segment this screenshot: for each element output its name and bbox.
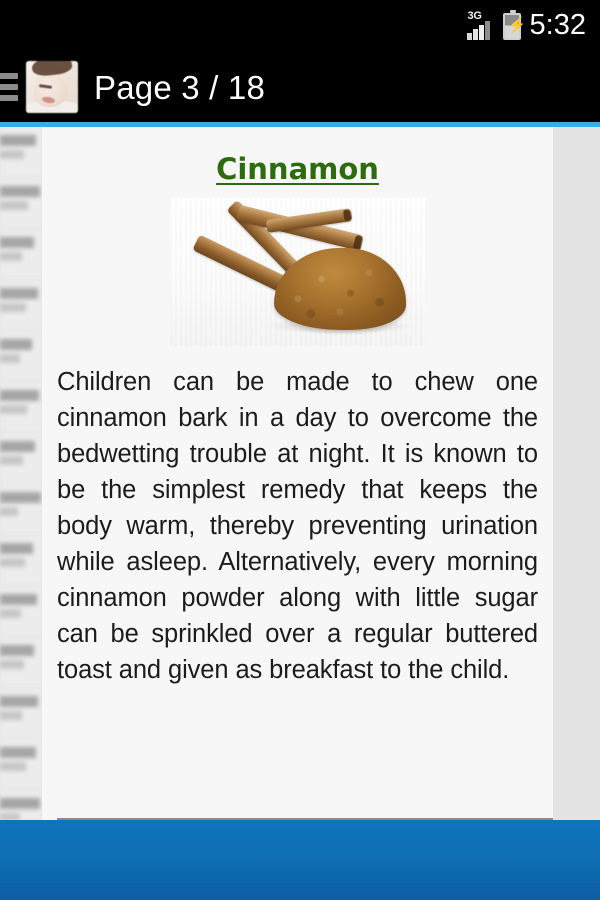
status-bar-clock: 5:32 <box>530 11 586 42</box>
drawer-peek-row-line-1 <box>0 339 32 350</box>
article-title: Cinnamon <box>42 153 553 185</box>
cinnamon-photo <box>170 198 425 346</box>
status-bar: 3G ⚡ 5:32 <box>0 0 600 52</box>
signal-strength-bars <box>467 21 494 40</box>
drawer-peek-row-line-1 <box>0 645 34 656</box>
page-title: Page 3 / 18 <box>94 71 265 104</box>
drawer-peek-row-line-2 <box>0 507 18 516</box>
drawer-peek-row[interactable] <box>0 790 42 820</box>
drawer-peek-row[interactable] <box>0 127 42 178</box>
drawer-peek-row[interactable] <box>0 382 42 433</box>
footer-bar <box>0 820 600 900</box>
article-scroll-container[interactable]: Cinnamon Children can be made to chew on… <box>42 153 553 820</box>
signal-bar-4 <box>485 21 490 40</box>
drawer-peek-row[interactable] <box>0 433 42 484</box>
drawer-peek-row[interactable] <box>0 739 42 790</box>
drawer-peek-row[interactable] <box>0 535 42 586</box>
signal-bar-1 <box>467 33 472 40</box>
stick-tip-4 <box>343 209 351 221</box>
content-area: Cinnamon Children can be made to chew on… <box>0 127 600 820</box>
drawer-peek-row-line-1 <box>0 747 36 758</box>
page-right-gutter <box>553 127 600 820</box>
hamburger-line-3 <box>0 95 18 101</box>
drawer-peek-row-line-2 <box>0 711 22 720</box>
drawer-peek-row[interactable] <box>0 586 42 637</box>
drawer-peek-row-line-1 <box>0 441 35 452</box>
drawer-peek-row[interactable] <box>0 229 42 280</box>
drawer-peek-row[interactable] <box>0 688 42 739</box>
app-logo-icon[interactable] <box>26 61 78 113</box>
drawer-peek-row-line-2 <box>0 456 23 465</box>
signal-bar-2 <box>473 29 478 40</box>
status-bar-right-group: 3G ⚡ 5:32 <box>467 11 586 42</box>
drawer-peek-row-line-1 <box>0 237 34 248</box>
article-body-text: Children can be made to chew one cinnamo… <box>57 364 538 688</box>
hamburger-line-1 <box>0 73 18 79</box>
drawer-peek-row[interactable] <box>0 280 42 331</box>
battery-charging-icon: ⚡ <box>503 13 521 40</box>
drawer-peek-row-line-1 <box>0 186 40 197</box>
drawer-peek-row-line-1 <box>0 492 41 503</box>
drawer-peek-row-line-1 <box>0 135 36 146</box>
drawer-peek-row-line-1 <box>0 543 33 554</box>
drawer-peek-row-line-1 <box>0 288 38 299</box>
drawer-peek-row[interactable] <box>0 178 42 229</box>
drawer-peek-row-line-2 <box>0 813 20 820</box>
hamburger-menu-icon[interactable] <box>0 69 18 105</box>
drawer-peek-row-line-2 <box>0 354 20 363</box>
drawer-peek-row[interactable] <box>0 484 42 535</box>
drawer-peek-row-line-2 <box>0 405 27 414</box>
drawer-peek-row-line-2 <box>0 762 26 771</box>
device-screen: 3G ⚡ 5:32 <box>0 0 600 900</box>
navigation-drawer-peek[interactable] <box>0 127 42 820</box>
drawer-peek-row-line-2 <box>0 609 21 618</box>
drawer-peek-row-line-2 <box>0 558 25 567</box>
drawer-peek-row-line-1 <box>0 798 40 809</box>
drawer-peek-row-line-1 <box>0 696 38 707</box>
signal-bars-icon: 3G <box>467 11 494 41</box>
charging-bolt-icon: ⚡ <box>508 18 527 33</box>
drawer-peek-row-line-1 <box>0 390 39 401</box>
drawer-peek-row-line-1 <box>0 594 37 605</box>
drawer-peek-row-line-2 <box>0 252 22 261</box>
drawer-peek-row-line-2 <box>0 303 26 312</box>
app-title-bar: Page 3 / 18 <box>0 52 600 122</box>
hamburger-line-2 <box>0 84 18 90</box>
drawer-peek-row-line-2 <box>0 150 24 159</box>
signal-bar-3 <box>479 25 484 40</box>
drawer-peek-row-line-2 <box>0 201 28 210</box>
drawer-peek-row[interactable] <box>0 331 42 382</box>
drawer-peek-row[interactable] <box>0 637 42 688</box>
article-page-card: Cinnamon Children can be made to chew on… <box>42 127 553 820</box>
drawer-peek-row-line-2 <box>0 660 24 669</box>
